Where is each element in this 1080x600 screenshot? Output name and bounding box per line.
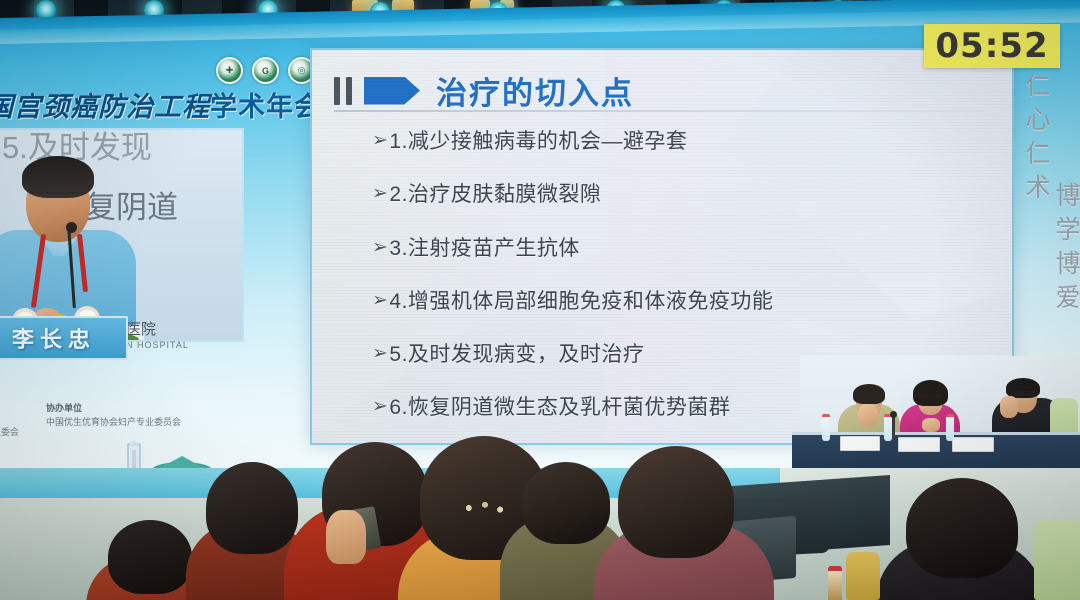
audience-chair	[1034, 520, 1080, 600]
audience-hair	[906, 478, 1018, 578]
timer-value: 05:52	[935, 26, 1048, 66]
sponsor-block: 协办单位 中国优生优育协会妇产专业委员会	[46, 402, 181, 430]
audience-hair	[108, 520, 192, 594]
audience-hair	[206, 462, 298, 554]
hospital-sign-en: N HOSPITAL	[126, 340, 189, 350]
panelist-glasses-icon	[919, 394, 942, 399]
title-bar-icon	[346, 77, 352, 105]
slide-title-divider	[334, 110, 984, 112]
title-bar-icon	[334, 77, 340, 105]
sponsor-organization: 中国优生优育协会妇产专业委员会	[46, 417, 181, 427]
bullet-text: 6.恢复阴道微生态及乳杆菌优势菌群	[389, 394, 730, 421]
hair-clip	[458, 500, 512, 516]
audience-hair	[618, 446, 734, 558]
audience-hair	[522, 462, 610, 544]
audience-hand	[326, 510, 366, 564]
panel-microphone	[892, 416, 895, 436]
bullet-marker-icon: ➢	[372, 128, 388, 155]
countdown-timer: 05:52	[924, 24, 1060, 68]
panelist-nameplate	[840, 436, 880, 451]
bullet-text: 4.增强机体局部细胞免疫和体液免疫功能	[389, 288, 773, 315]
banner-title-plain: 学术年会	[210, 92, 322, 123]
microphone-head-icon	[890, 411, 897, 418]
speaker-name-placard: 李长忠	[0, 316, 128, 360]
panelist-hand	[1000, 396, 1018, 418]
bullet-text: 2.治疗皮肤黏膜微裂隙	[389, 181, 601, 208]
panelist-hand	[858, 404, 878, 426]
panelist-hand	[922, 418, 940, 432]
association-logo-icon: ✚	[216, 57, 243, 84]
water-bottle	[946, 414, 954, 441]
slide-title-row: 治疗的切入点	[334, 68, 634, 113]
bullet-marker-icon: ➢	[372, 288, 388, 315]
slide-bullet: ➢ 4.增强机体局部细胞免疫和体液免疫功能	[372, 288, 992, 315]
bullet-marker-icon: ➢	[372, 341, 388, 368]
bullet-marker-icon: ➢	[372, 235, 388, 262]
panelist-nameplate	[898, 437, 940, 452]
slide-bullet: ➢ 2.治疗皮肤黏膜微裂隙	[372, 181, 992, 208]
bullet-text: 5.及时发现病变，及时治疗	[389, 341, 644, 368]
microphone-head-icon	[66, 222, 77, 233]
panelist-hair	[853, 384, 885, 404]
panelist-nameplate	[952, 437, 994, 452]
bullet-marker-icon: ➢	[372, 394, 388, 421]
bullet-marker-icon: ➢	[372, 181, 388, 208]
speaker-glasses-icon	[32, 192, 84, 203]
conference-banner-title: 国宫颈癌防治工程学术年会	[0, 85, 306, 124]
panelist-glasses-icon	[1011, 391, 1035, 396]
bullet-text: 3.注射疫苗产生抗体	[389, 235, 580, 262]
sponsor-label: 协办单位	[46, 403, 82, 413]
water-bottle	[822, 414, 830, 441]
speaker-video-inset: 5.及时发现 恢复阴道	[0, 128, 244, 342]
slide-bullet: ➢ 1.减少接触病毒的机会—避孕套	[372, 128, 992, 155]
banner-title-script: 国宫颈癌防治工程	[0, 92, 210, 123]
speaker-name: 李长忠	[12, 322, 96, 354]
conference-photo: ✚ G ◎ 国宫颈癌防治工程学术年会 5.及时发现 恢复阴道	[0, 0, 1080, 600]
audience-chair	[846, 552, 880, 600]
slide-bullet: ➢ 3.注射疫苗产生抗体	[372, 235, 992, 262]
bullet-text: 1.减少接触病毒的机会—避孕套	[389, 128, 687, 155]
motto-line-2: 博学博爱	[1048, 182, 1080, 318]
title-arrow-icon	[364, 77, 420, 105]
banner-logo-row: ✚ G ◎	[216, 57, 315, 84]
organizer-fragment: 组委会	[0, 425, 19, 438]
water-bottle	[884, 414, 892, 441]
association-logo-icon: G	[252, 57, 279, 84]
panelist-hair	[913, 380, 948, 406]
slide-title: 治疗的切入点	[436, 68, 634, 113]
floor-water-bottle	[828, 566, 842, 600]
